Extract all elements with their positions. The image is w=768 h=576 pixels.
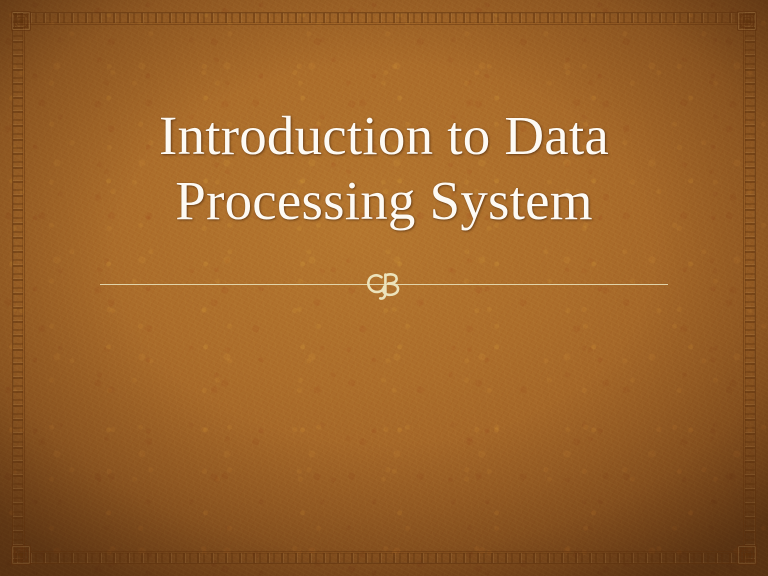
slide-title: Introduction to Data Processing System	[64, 104, 704, 234]
title-divider	[100, 284, 668, 286]
slide-title-line-2: Processing System	[64, 169, 704, 234]
cb-monogram-ornament	[355, 261, 413, 307]
presentation-slide: Introduction to Data Processing System	[0, 0, 768, 576]
slide-title-line-1: Introduction to Data	[64, 104, 704, 169]
title-placeholder[interactable]: Introduction to Data Processing System	[64, 104, 704, 234]
